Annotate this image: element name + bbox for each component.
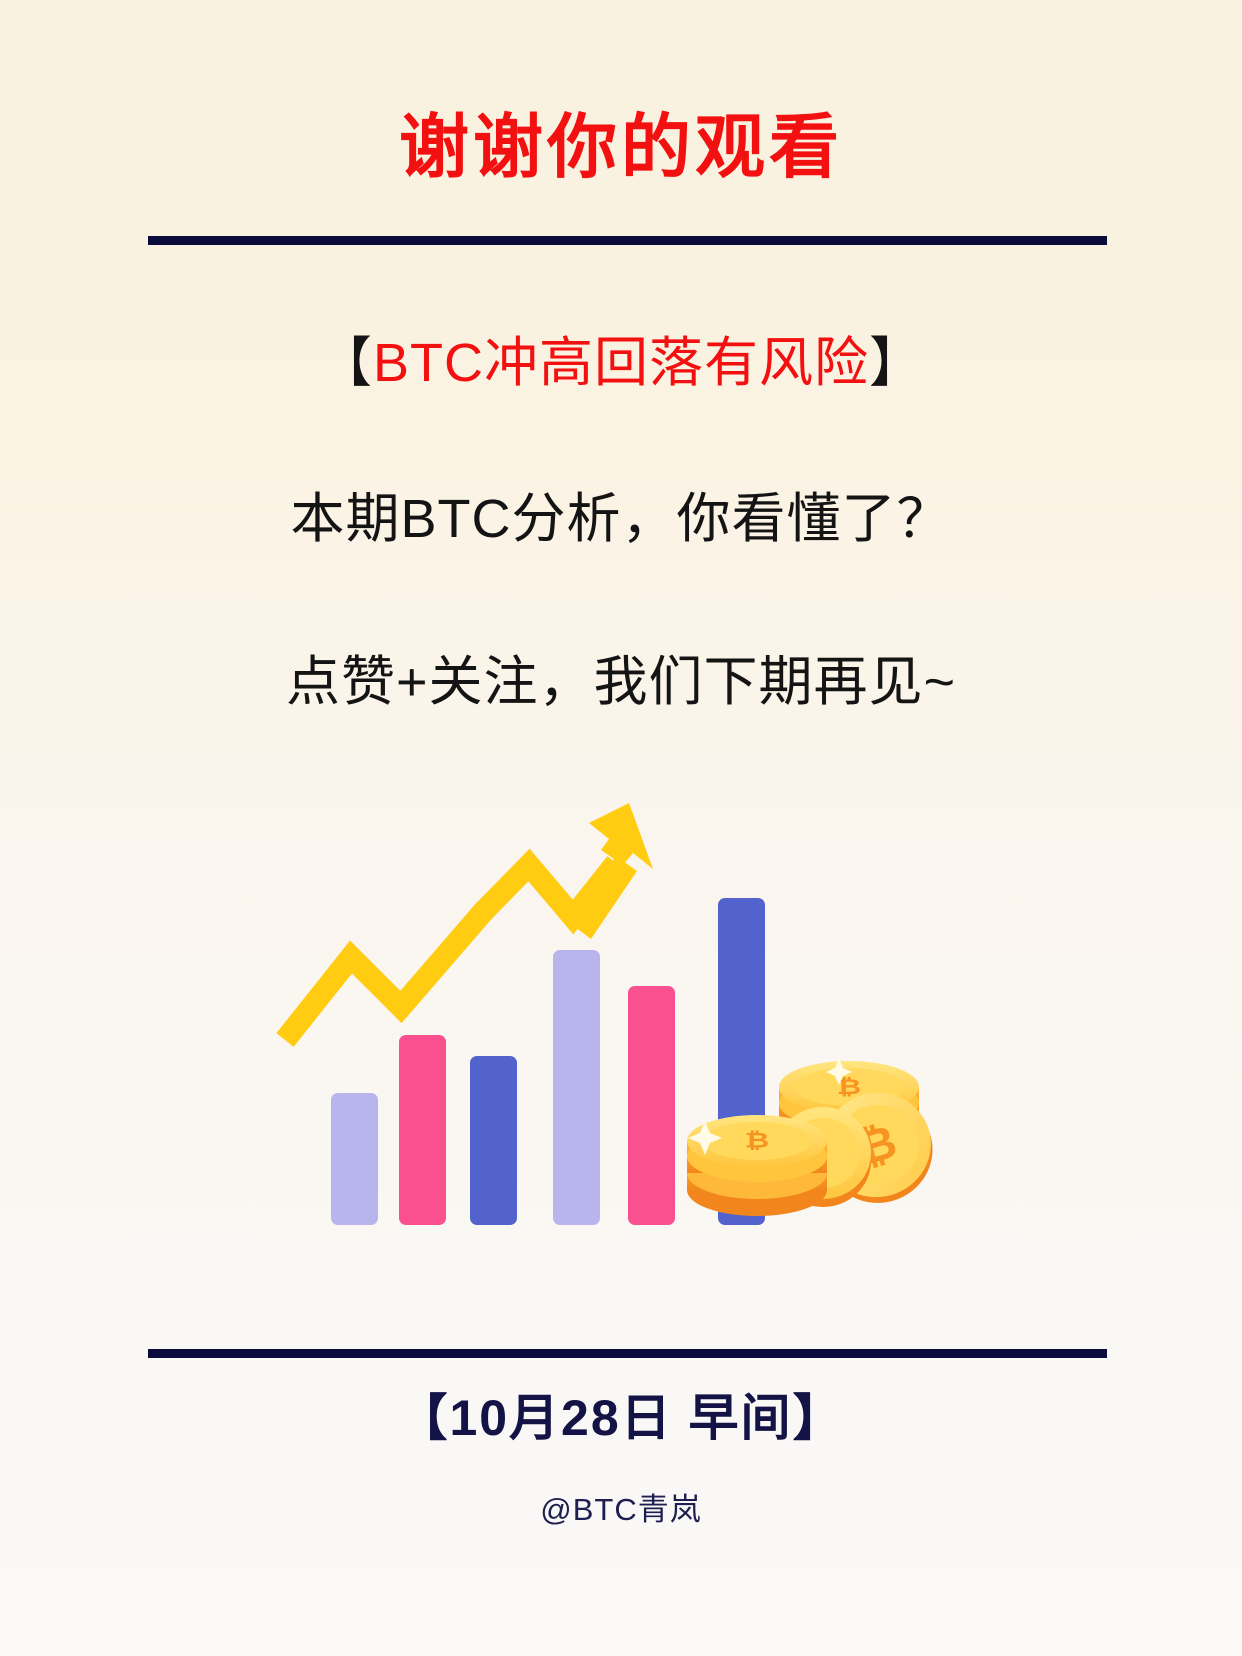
headline-text: BTC冲高回落有风险: [373, 333, 869, 393]
bar-2: [399, 1035, 446, 1225]
body-text-block: 【BTC冲高回落有风险】 本期BTC分析，你看懂了？ 点赞+关注，我们下期再见~: [0, 330, 1242, 717]
coin-symbol: ₿: [745, 1128, 769, 1153]
cta-line: 点赞+关注，我们下期再见~: [0, 649, 1242, 717]
bar-3: [470, 1056, 517, 1225]
page-title: 谢谢你的观看: [399, 108, 843, 186]
divider-bottom: [148, 1349, 1107, 1358]
date-text: 10月28日 早间: [449, 1390, 792, 1446]
divider-top: [148, 236, 1107, 245]
bar-5: [628, 986, 675, 1225]
bar-4: [553, 950, 600, 1225]
date-bracket-close: 】: [793, 1390, 845, 1446]
question-line: 本期BTC分析，你看懂了？: [0, 486, 1242, 554]
bar-1: [331, 1093, 378, 1225]
author-handle: @BTC青岚: [0, 1484, 1242, 1529]
poster-canvas: 谢谢你的观看 【BTC冲高回落有风险】 本期BTC分析，你看懂了？ 点赞+关注，…: [0, 0, 1242, 1656]
headline-bracket-open: 【: [318, 333, 373, 393]
headline-row: 【BTC冲高回落有风险】: [0, 330, 1242, 398]
footer-block: 【10月28日 早间】 @BTC青岚: [0, 1388, 1242, 1529]
illustration-growth-chart: ₿ ₿: [271, 795, 971, 1255]
date-bracket-open: 【: [397, 1390, 449, 1446]
headline-bracket-close: 】: [869, 333, 924, 393]
footer-date: 【10月28日 早间】: [0, 1388, 1242, 1448]
